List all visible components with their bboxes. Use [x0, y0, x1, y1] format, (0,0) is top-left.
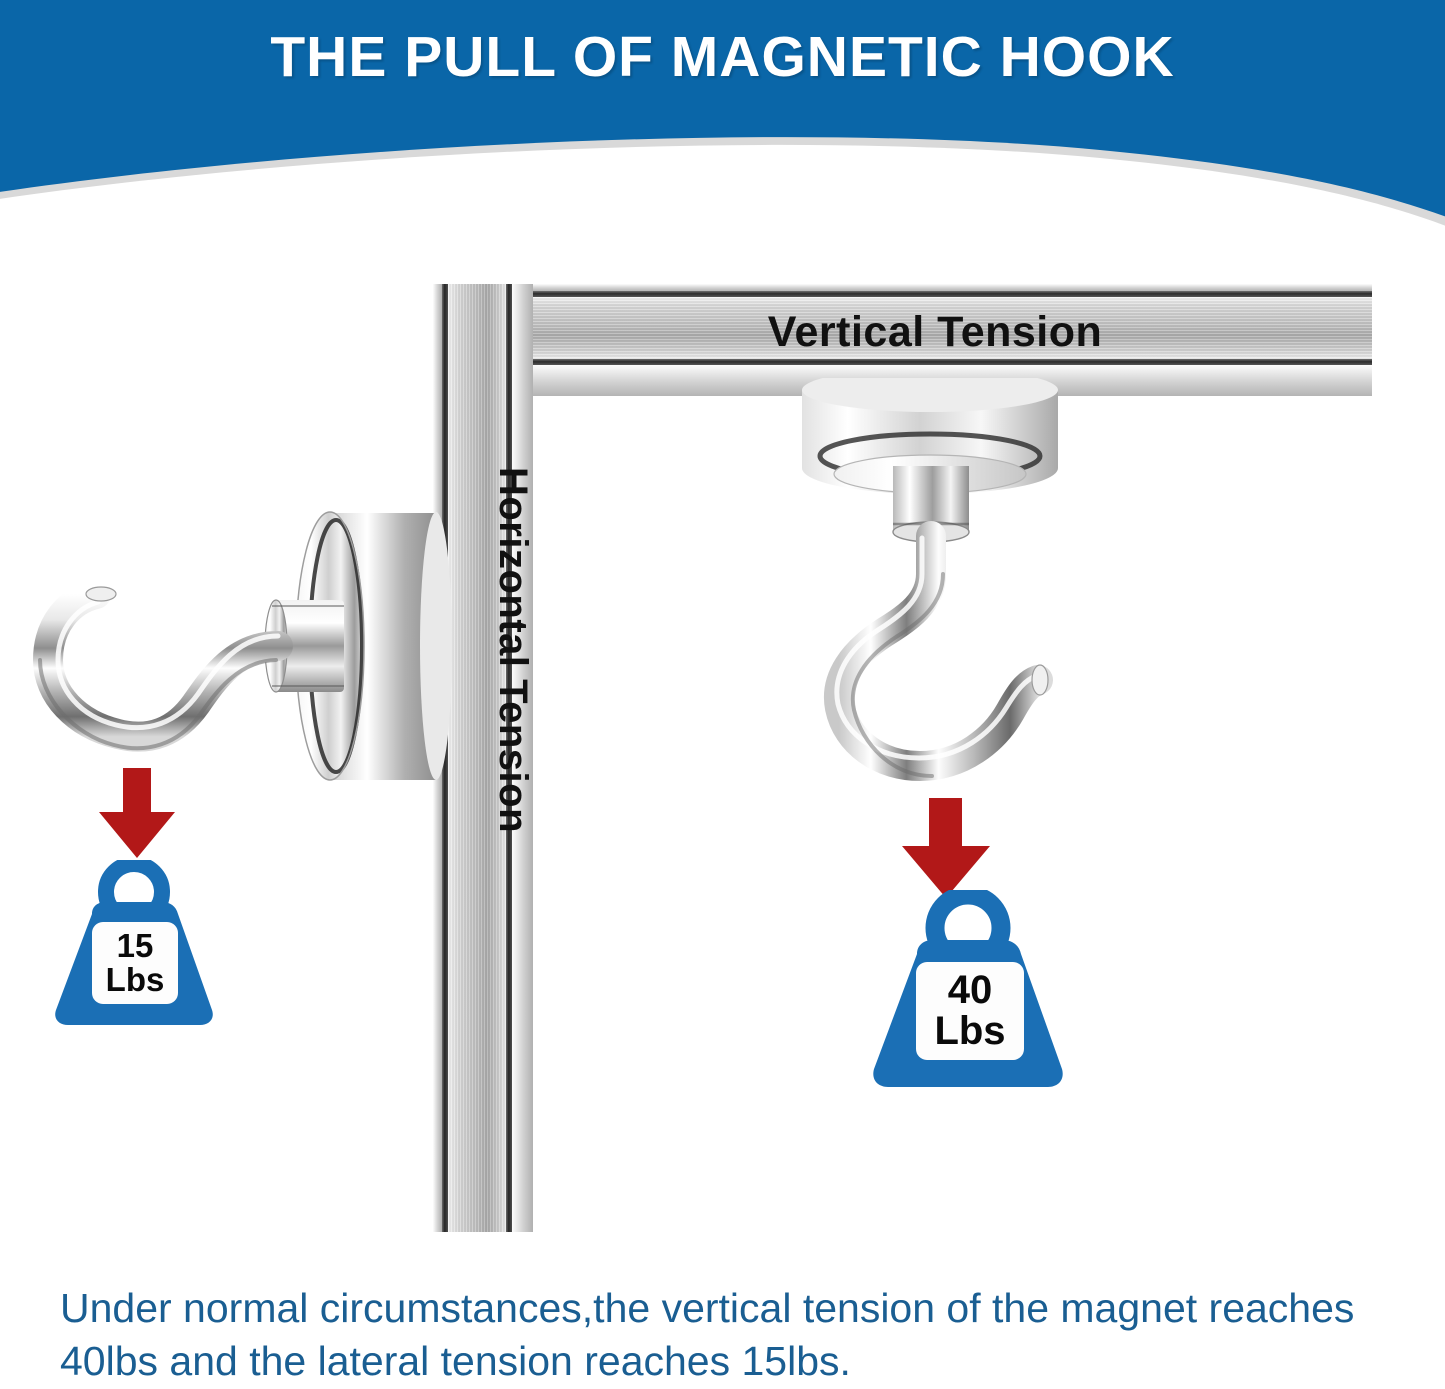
right-weight-unit: Lbs: [934, 1011, 1005, 1052]
left-weight-icon: 15 Lbs: [46, 860, 222, 1028]
right-hook-tip: [1032, 665, 1048, 695]
vertical-beam-label: Horizontal Tension: [483, 505, 543, 795]
right-magnetic-hook-assembly: [780, 378, 1100, 818]
header-banner: THE PULL OF MAGNETIC HOOK: [0, 0, 1445, 300]
right-weight-icon: 40 Lbs: [862, 890, 1074, 1090]
right-chrome-hook: [839, 536, 1038, 766]
caption-text: Under normal circumstances,the vertical …: [60, 1282, 1390, 1389]
right-weight-label: 40 Lbs: [916, 962, 1024, 1060]
page-title: THE PULL OF MAGNETIC HOOK: [0, 24, 1445, 90]
right-weight-value: 40: [948, 970, 993, 1011]
horizontal-beam-label: Vertical Tension: [700, 300, 1170, 364]
left-down-arrow-icon: [95, 768, 179, 860]
left-magnetic-hook-assembly: [0, 480, 470, 820]
left-hook-tip: [86, 587, 116, 601]
left-weight-label: 15 Lbs: [92, 922, 178, 1004]
left-weight-value: 15: [117, 929, 154, 963]
left-chrome-hook: [48, 594, 278, 737]
left-weight-unit: Lbs: [106, 963, 165, 997]
beam-edge-top: [525, 284, 1372, 291]
right-down-arrow-icon: [898, 798, 994, 900]
